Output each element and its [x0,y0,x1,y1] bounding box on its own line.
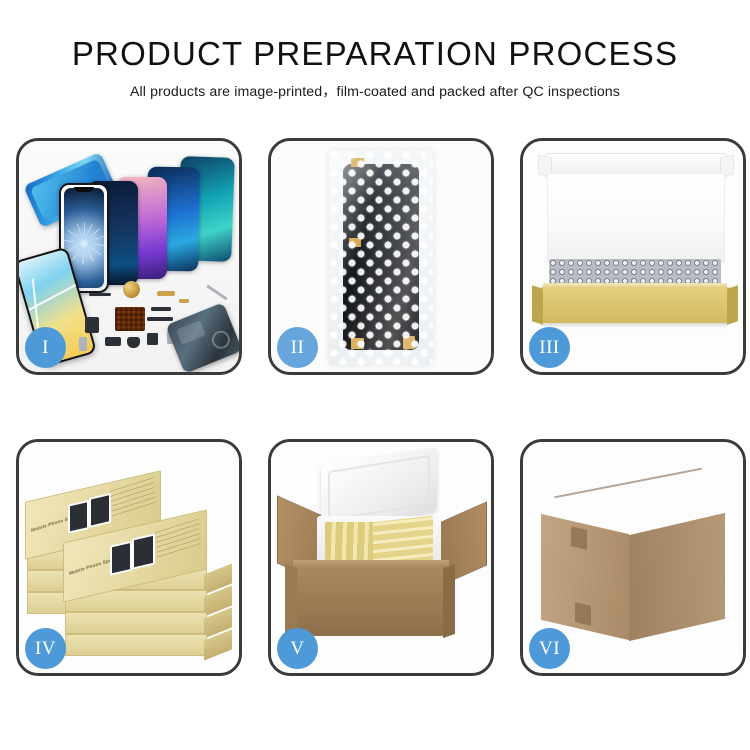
flex-part-icon [89,293,111,296]
plastic-sheen [329,150,433,365]
spec-lines [155,518,201,561]
carton-right-face-icon [629,513,725,641]
flex-cable-icon [151,307,171,311]
yellow-box-front-icon [541,287,729,323]
process-step-3-foam-box: III [520,138,746,375]
step-badge-5: V [277,628,318,669]
sim-tray-icon [79,337,87,351]
screen-print-icon [68,500,89,534]
header: PRODUCT PREPARATION PROCESS All products… [0,0,750,101]
white-foam-sheet-icon [547,173,725,263]
step-badge-1: I [25,327,66,368]
connector-grid-icon [115,307,145,331]
process-step-6-sealed-carton: VI [520,439,746,676]
step-badge-3: III [529,327,570,368]
step-badge-6: VI [529,628,570,669]
product-preparation-process-infographic: PRODUCT PREPARATION PROCESS All products… [0,0,750,750]
spec-lines [110,477,156,520]
tape-tab-icon [571,526,587,550]
page-subtitle: All products are image-printed，film-coat… [0,81,750,101]
carton-front-icon [295,566,445,636]
antenna-cable-icon [147,317,173,321]
vibration-motor-icon [123,281,140,298]
process-step-grid: I II [16,138,734,676]
gold-bracket-icon [157,291,175,296]
tape-tab-icon [575,602,591,626]
step-badge-2: II [277,327,318,368]
process-step-4-stacked-boxes: Mobile Phone Spare Parts Mobile Phone Sp… [16,439,242,676]
ic-chip-icon [85,317,99,333]
process-step-1-phone-parts: I [16,138,242,375]
process-step-2-bubble-wrap: II [268,138,494,375]
bubble-wrap-bag-icon [329,150,433,365]
camera-module-icon [105,337,121,346]
yellow-boxes-inside-icon [325,522,433,564]
button-flex-icon [147,333,158,345]
page-title: PRODUCT PREPARATION PROCESS [0,36,750,72]
process-step-5-carton-packing: V [268,439,494,676]
screen-print-icon [132,533,155,569]
screen-print-icon [89,493,111,528]
gold-clip-icon [179,299,189,303]
screen-print-icon [110,541,132,576]
speaker-icon [127,337,140,348]
step-badge-4: IV [25,628,66,669]
